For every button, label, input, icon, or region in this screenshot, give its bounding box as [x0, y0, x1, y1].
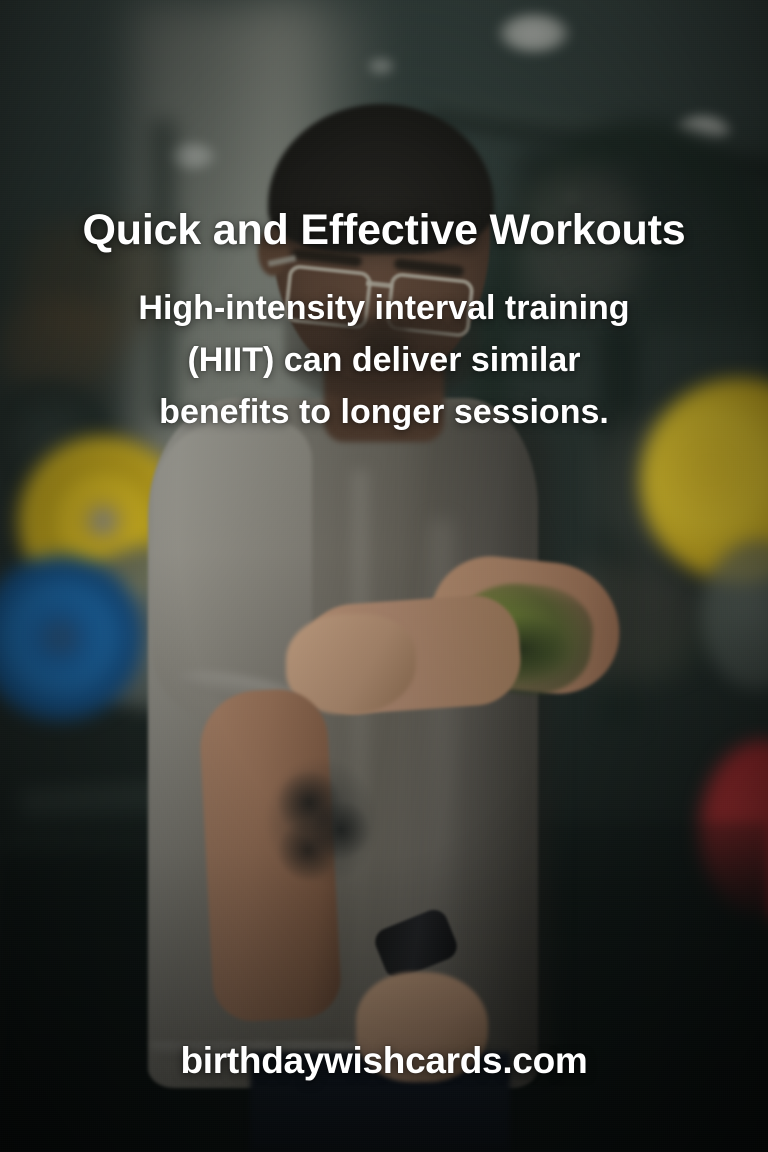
card-subtitle: High-intensity interval training (HIIT) …	[124, 282, 644, 438]
workout-quote-card: Quick and Effective Workouts High-intens…	[0, 0, 768, 1152]
website-url: birthdaywishcards.com	[0, 1040, 768, 1082]
card-title: Quick and Effective Workouts	[0, 206, 768, 254]
text-overlay: Quick and Effective Workouts High-intens…	[0, 0, 768, 1152]
